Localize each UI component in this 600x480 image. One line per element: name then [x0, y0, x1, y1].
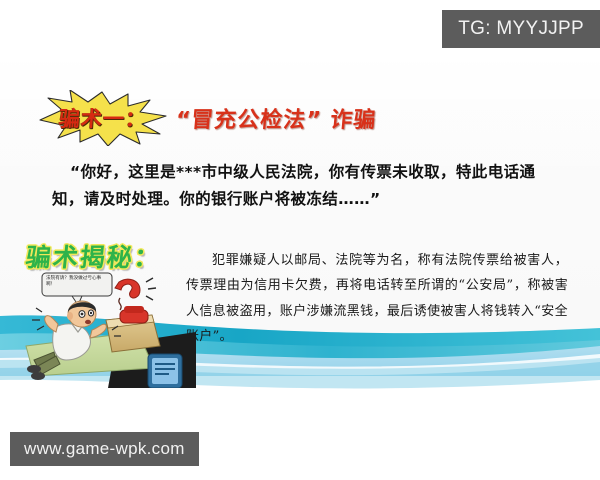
- explanation-paragraph: 犯罪嫌疑人以邮局、法院等为名，称有法院传票给被害人，传票理由为信用卡欠费，再将电…: [186, 248, 568, 349]
- bottom-watermark-badge: www.game-wpk.com: [10, 432, 199, 466]
- headline-row: 骗术一： “冒充公检法” 诈骗: [36, 90, 377, 146]
- top-watermark-badge: TG: MYYJJPP: [442, 10, 600, 48]
- headline-red-title: “冒充公检法” 诈骗: [175, 102, 378, 134]
- tablet-icon: [148, 354, 182, 388]
- starburst-label: 骗术一：: [34, 90, 172, 146]
- scam-script-quote: “你好，这里是***市中级人民法院，你有传票未收取，特此电话通知，请及时处理。你…: [52, 159, 562, 212]
- speech-bubble-icon: [42, 273, 112, 305]
- illustration-artwork: [20, 272, 196, 388]
- scam-illustration: 法院有请？我没做过亏心事啊！: [20, 272, 196, 388]
- starburst-badge: 骗术一：: [36, 90, 170, 146]
- slide-card: 骗术一： “冒充公检法” 诈骗 “你好，这里是***市中级人民法院，你有传票未收…: [0, 62, 600, 408]
- reveal-heading: 骗术揭秘：: [24, 238, 163, 274]
